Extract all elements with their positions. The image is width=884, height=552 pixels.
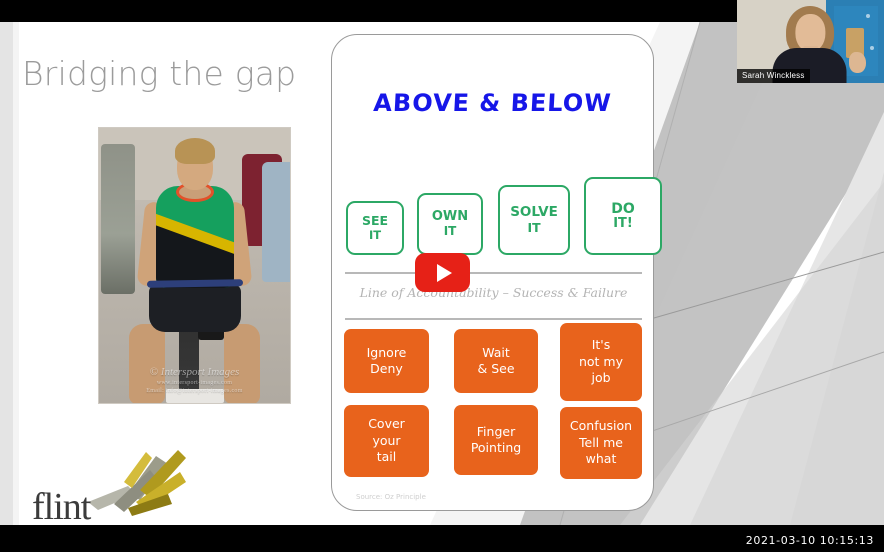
orange-box-confusion: Confusion Tell me what (560, 407, 642, 479)
photo-watermark-line1: © Intersport Images (99, 366, 290, 380)
slide-left-edge-strip-2 (13, 22, 19, 525)
accountability-line-label: Line of Accountability – Success & Failu… (345, 285, 642, 300)
green-box-line1: SEE (362, 214, 388, 228)
play-button[interactable] (415, 253, 470, 292)
participant-name-label: Sarah Winckless (737, 69, 810, 84)
green-box-see-it: SEE IT (346, 201, 404, 255)
orange-box-ignore-deny: Ignore Deny (344, 329, 429, 393)
green-box-do-it: DO IT! (584, 177, 662, 255)
photo-bystander-left (101, 144, 135, 294)
orange-box-cover-your-tail: Cover your tail (344, 405, 429, 477)
slide-left-edge-strip (0, 22, 13, 525)
photo-athlete-shorts (149, 284, 241, 332)
participant-hand (849, 52, 866, 73)
flint-wordmark: flint (32, 488, 90, 525)
above-the-line-row: SEE IT OWN IT SOLVE IT DO IT! (346, 175, 642, 255)
participant-video-tile[interactable]: Sarah Winckless (737, 0, 884, 83)
green-box-line1: SOLVE (510, 205, 558, 221)
photo-watermark-line2: www.intersport-images.com (99, 380, 290, 388)
green-box-line1: OWN (432, 210, 468, 225)
rower-photo: © Intersport Images www.intersport-image… (98, 127, 291, 404)
accountability-rule-bottom (345, 318, 642, 320)
green-box-own-it: OWN IT (417, 193, 483, 255)
play-icon (437, 264, 452, 282)
green-box-line2: IT (369, 229, 381, 242)
diagram-title: ABOVE & BELOW (331, 89, 653, 117)
page-title: Bridging the gap (22, 54, 296, 93)
below-the-line-grid: Ignore Deny Wait & See It's not my job C… (344, 323, 644, 483)
video-map-dot (870, 46, 874, 50)
recording-timestamp: 2021-03-10 10:15:13 (746, 534, 874, 547)
diagram-source-note: Source: Oz Principle (356, 493, 426, 501)
recording-viewport: Bridging the gap © Inte (0, 0, 884, 552)
accountability-line: Line of Accountability – Success & Failu… (345, 272, 642, 320)
green-box-line1: DO (611, 201, 635, 217)
photo-athlete-hair (175, 138, 215, 164)
photo-watermark-line3: Email: info@intersport-images.com (99, 388, 290, 396)
flint-logo: flint PERFORMANCE PARTNERS (28, 446, 198, 525)
green-box-line2: IT! (613, 217, 632, 232)
green-box-line2: IT (527, 221, 540, 235)
video-map-dot (866, 14, 870, 18)
orange-box-wait-and-see: Wait & See (454, 329, 538, 393)
orange-box-not-my-job: It's not my job (560, 323, 642, 401)
orange-box-finger-pointing: Finger Pointing (454, 405, 538, 475)
photo-bystander-right (262, 162, 290, 282)
photo-watermark: © Intersport Images www.intersport-image… (99, 366, 290, 395)
accountability-rule-top (345, 272, 642, 274)
green-box-line2: IT (444, 225, 457, 239)
above-below-diagram-card: ABOVE & BELOW SEE IT OWN IT SOLVE IT DO … (331, 34, 654, 511)
green-box-solve-it: SOLVE IT (498, 185, 570, 255)
